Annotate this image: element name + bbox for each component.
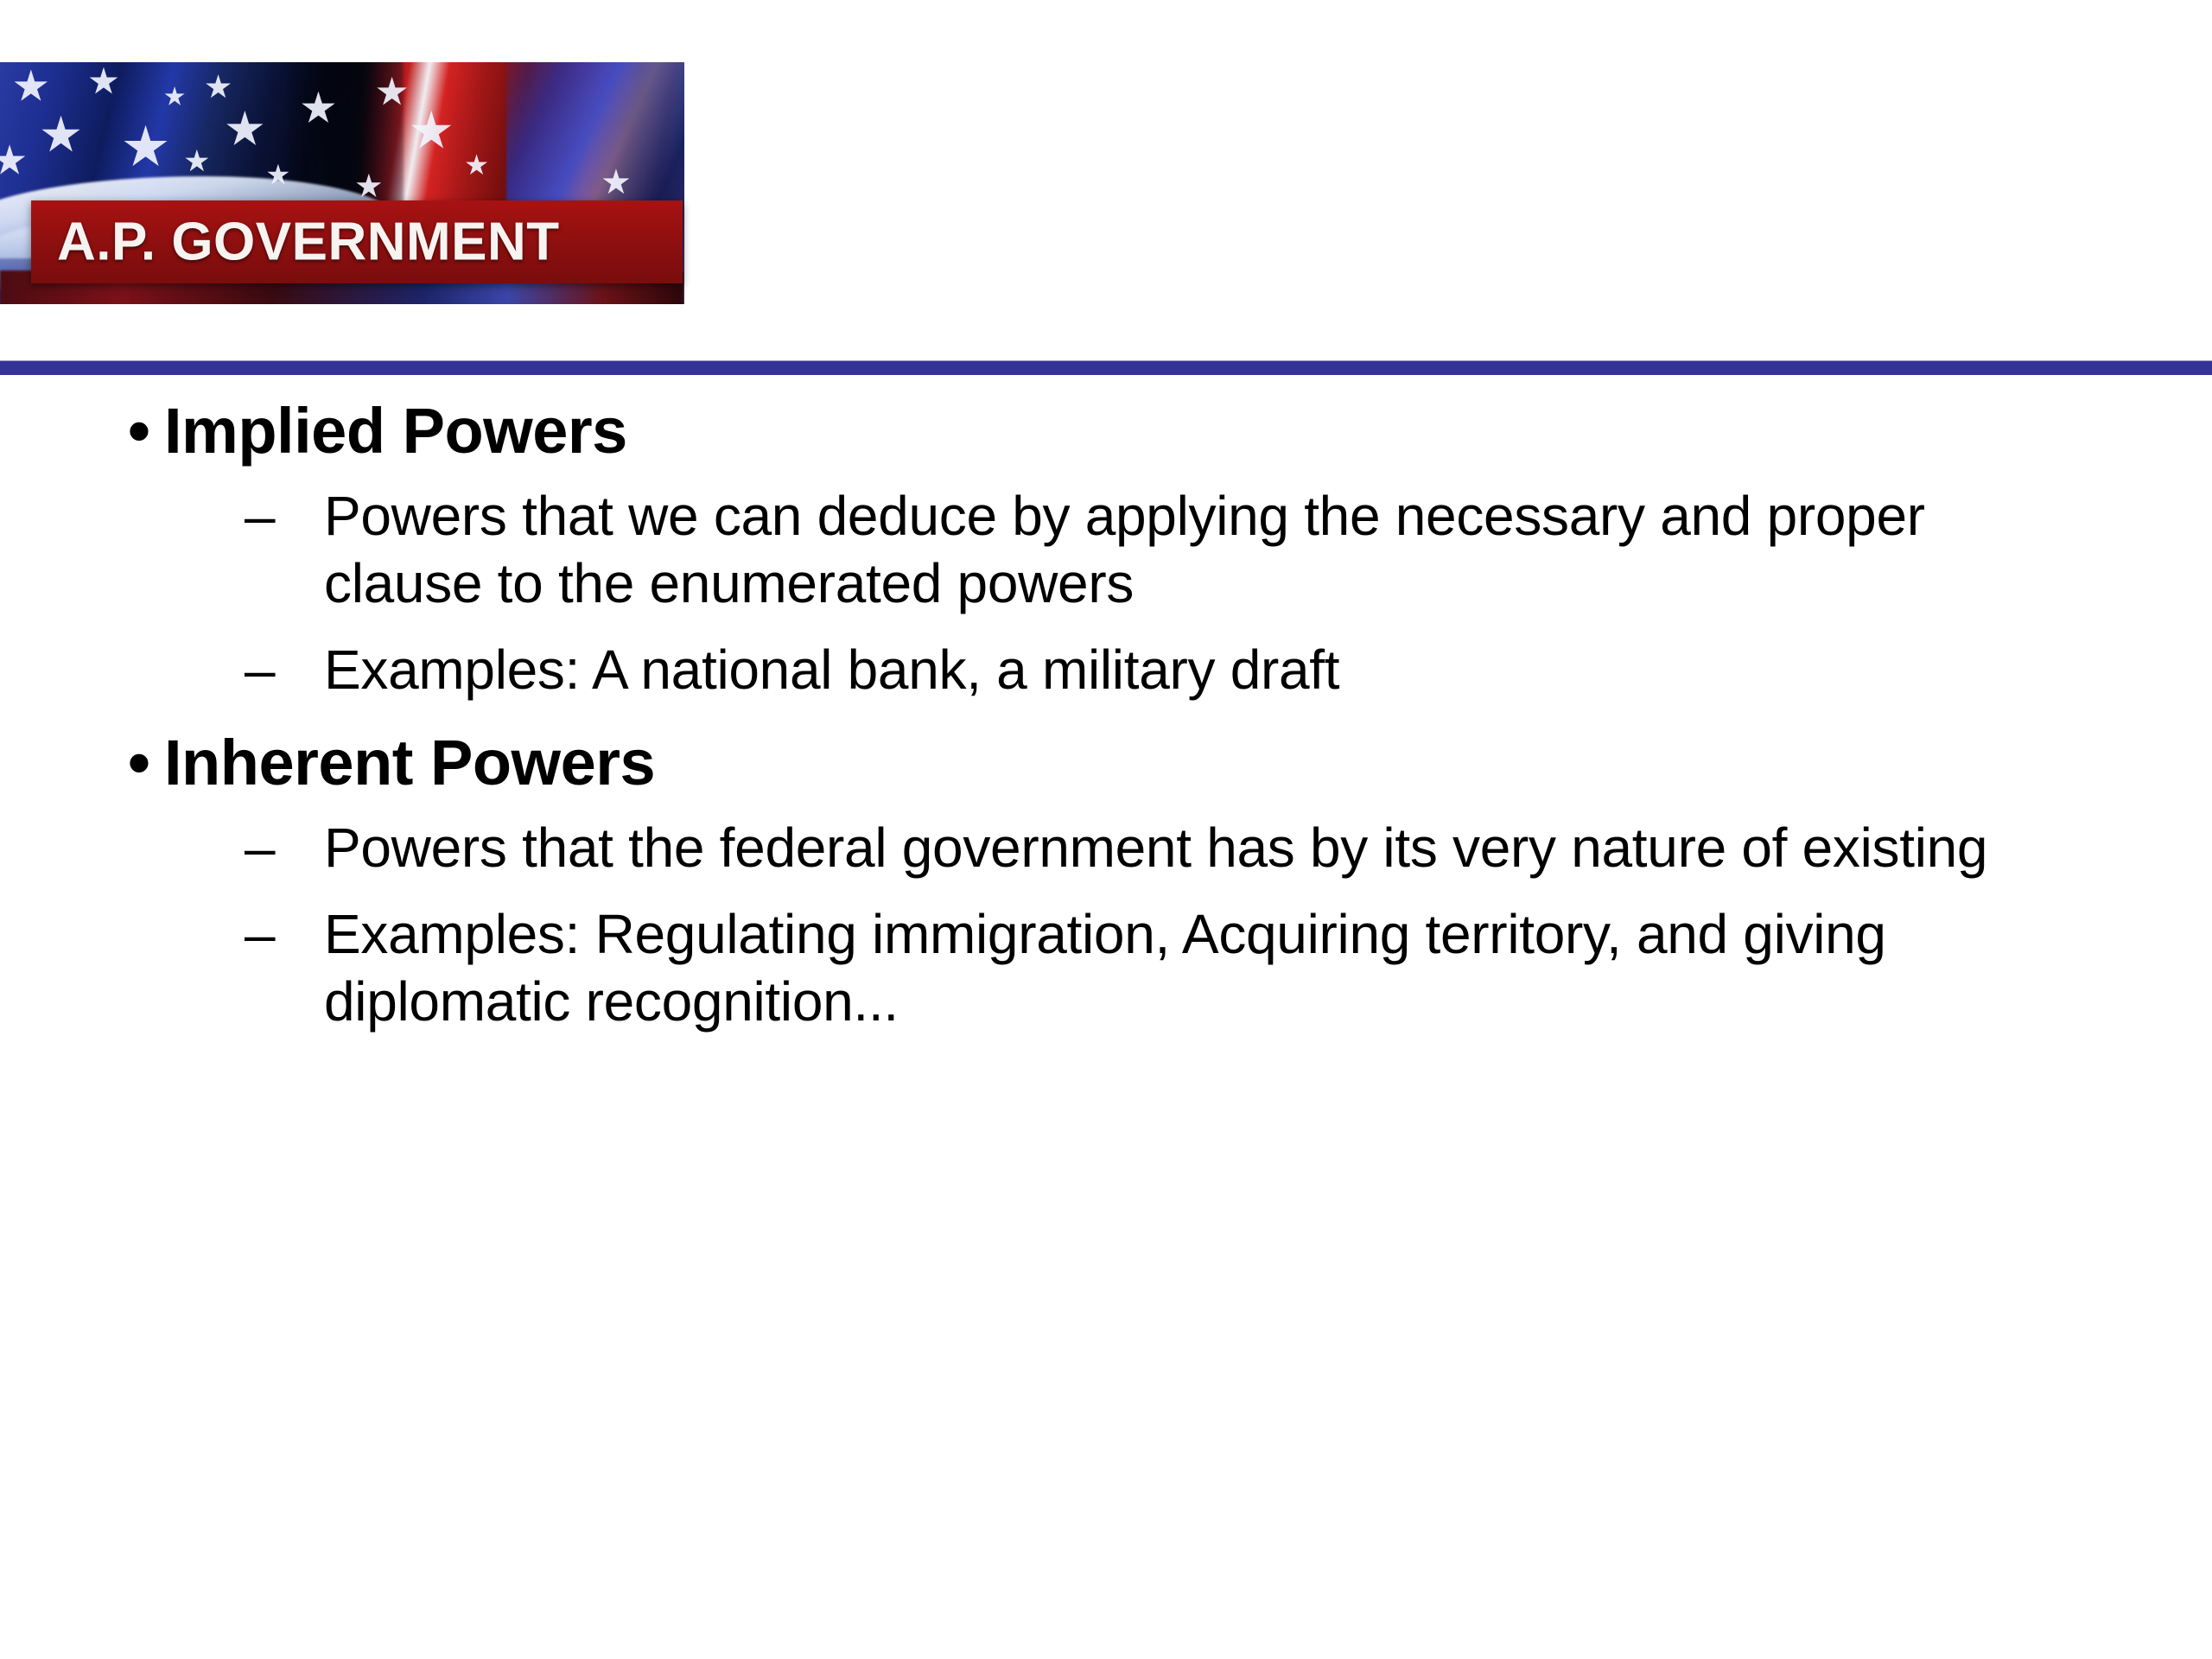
text-inherent-examples: Examples: Regulating immigration, Acquir… [324, 900, 2009, 1035]
slide-header-banner: A.P. GOVERNMENT [0, 62, 684, 304]
bullet-dash-icon: – [245, 900, 276, 968]
bullet-dash-icon: – [245, 636, 276, 703]
heading-implied-powers: Implied Powers [164, 393, 2212, 468]
bullet-dash-icon: – [245, 482, 276, 550]
list-item-inherent-definition: – Powers that the federal government has… [164, 814, 2212, 881]
slide-body: • Implied Powers – Powers that we can de… [0, 393, 2212, 1056]
bullet-dot-icon: • [128, 725, 150, 800]
bullet-list-level1: • Implied Powers – Powers that we can de… [0, 393, 2212, 1035]
bullet-dash-icon: – [245, 814, 276, 881]
list-item-implied-definition: – Powers that we can deduce by applying … [164, 482, 2212, 617]
list-item-inherent-examples: – Examples: Regulating immigration, Acqu… [164, 900, 2212, 1035]
text-implied-examples: Examples: A national bank, a military dr… [324, 636, 2009, 703]
list-item-implied-powers: • Implied Powers – Powers that we can de… [0, 393, 2212, 704]
bullet-dot-icon: • [128, 393, 150, 468]
banner-title-text: A.P. GOVERNMENT [57, 212, 560, 273]
list-item-implied-examples: – Examples: A national bank, a military … [164, 636, 2212, 703]
list-item-inherent-powers: • Inherent Powers – Powers that the fede… [0, 725, 2212, 1036]
banner-title-plate: A.P. GOVERNMENT [31, 200, 683, 283]
text-implied-definition: Powers that we can deduce by applying th… [324, 482, 2009, 617]
bullet-list-level2-inherent: – Powers that the federal government has… [164, 814, 2212, 1035]
text-inherent-definition: Powers that the federal government has b… [324, 814, 2009, 881]
heading-inherent-powers: Inherent Powers [164, 725, 2212, 800]
bullet-list-level2-implied: – Powers that we can deduce by applying … [164, 482, 2212, 703]
header-divider-rule [0, 360, 2212, 375]
